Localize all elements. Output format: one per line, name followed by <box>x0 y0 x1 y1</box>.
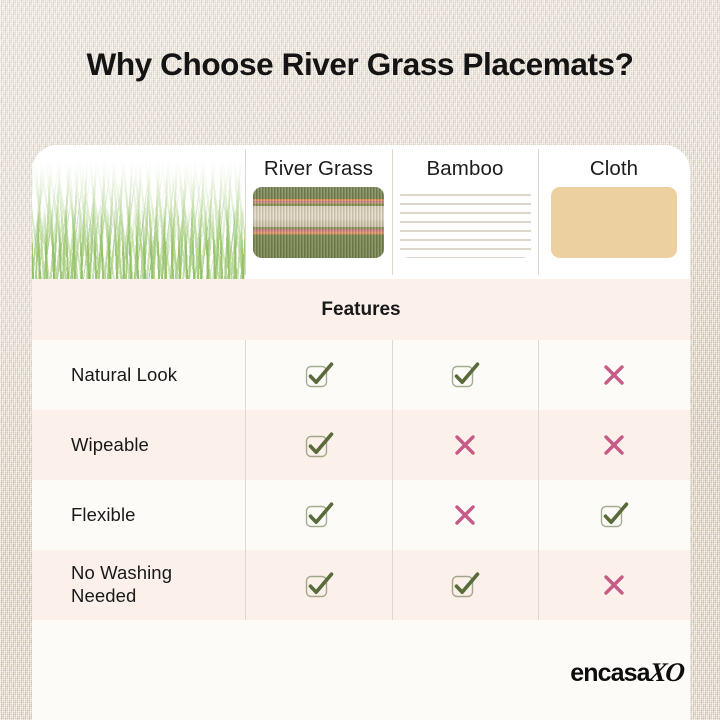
woven-cloth-placemat-icon <box>551 187 677 258</box>
cross-icon <box>597 358 631 392</box>
brand-name: encasa <box>570 659 649 688</box>
column-label-cloth: Cloth <box>590 157 638 181</box>
feature-name: No WashingNeeded <box>71 562 172 607</box>
cross-icon <box>597 428 631 462</box>
feature-name: Flexible <box>71 504 136 527</box>
column-header-river-grass: River Grass <box>245 145 392 279</box>
check-icon <box>302 358 336 392</box>
check-icon <box>448 358 482 392</box>
page-title: Why Choose River Grass Placemats? <box>0 46 720 83</box>
feature-label-cell: No WashingNeeded <box>32 550 245 620</box>
feature-value-cell <box>392 480 538 550</box>
feature-value-cell <box>538 480 690 550</box>
river-grass-woven-placemat-icon <box>253 187 384 258</box>
feature-value-cell <box>392 410 538 480</box>
feature-value-cell <box>392 550 538 620</box>
feature-name: Natural Look <box>71 364 177 387</box>
comparison-rows: Natural Look Wipeable Flexible No Washin… <box>32 340 690 620</box>
check-icon <box>302 568 336 602</box>
comparison-row: Natural Look <box>32 340 690 410</box>
comparison-card: River Grass Bamboo Cloth Features Natura… <box>32 145 690 720</box>
column-header-bamboo: Bamboo <box>392 145 538 279</box>
column-header-cloth: Cloth <box>538 145 690 279</box>
check-icon <box>302 428 336 462</box>
feature-value-cell <box>538 340 690 410</box>
check-icon <box>302 498 336 532</box>
feature-value-cell <box>392 340 538 410</box>
column-label-bamboo: Bamboo <box>427 157 504 181</box>
comparison-header-row: River Grass Bamboo Cloth <box>32 145 690 279</box>
feature-label-cell: Natural Look <box>32 340 245 410</box>
feature-value-cell <box>245 340 392 410</box>
comparison-row: Wipeable <box>32 410 690 480</box>
column-label-river-grass: River Grass <box>264 157 373 181</box>
feature-value-cell <box>245 480 392 550</box>
feature-label-cell: Flexible <box>32 480 245 550</box>
feature-label-cell: Wipeable <box>32 410 245 480</box>
feature-value-cell <box>245 410 392 480</box>
bamboo-poles-placemat-icon <box>400 187 531 258</box>
brand-logo: encasa XO <box>570 657 683 688</box>
check-icon <box>448 568 482 602</box>
check-icon <box>597 498 631 532</box>
grass-blades-front <box>32 205 245 279</box>
comparison-row: No WashingNeeded <box>32 550 690 620</box>
feature-name: Wipeable <box>71 434 149 457</box>
cross-icon <box>448 428 482 462</box>
cross-icon <box>448 498 482 532</box>
river-grass-field-illustration <box>32 145 245 279</box>
comparison-row: Flexible <box>32 480 690 550</box>
feature-value-cell <box>245 550 392 620</box>
hero-grass-cell <box>32 145 245 279</box>
features-label-text: Features <box>321 299 400 321</box>
feature-value-cell <box>538 410 690 480</box>
features-section-label: Features <box>32 279 690 340</box>
cross-icon <box>597 568 631 602</box>
brand-mark-xo: XO <box>647 657 685 688</box>
feature-value-cell <box>538 550 690 620</box>
